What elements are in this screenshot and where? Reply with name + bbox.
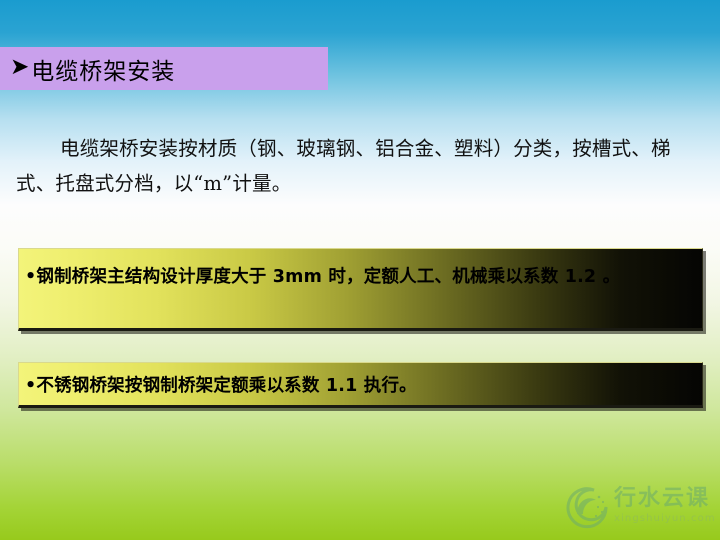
watermark: 行水云课 xingshuiyun.com [564, 476, 714, 534]
page-title: 电缆桥架安装 [31, 52, 175, 86]
watermark-subtitle: xingshuiyun.com [614, 512, 716, 525]
callout-text-1: •钢制桥架主结构设计厚度大于 3mm 时，定额人工、机械乘以系数 1.2 。 [25, 261, 694, 293]
slide-title-band: ➤ 电缆桥架安装 [0, 47, 328, 90]
body-paragraph: 电缆架桥安装按材质（钢、玻璃钢、铝合金、塑料）分类，按槽式、梯式、托盘式分档，以… [16, 131, 708, 201]
arrow-bullet-icon: ➤ [10, 56, 29, 79]
wave-logo-icon [564, 481, 612, 529]
slide-canvas: ➤ 电缆桥架安装 电缆架桥安装按材质（钢、玻璃钢、铝合金、塑料）分类，按槽式、梯… [0, 0, 720, 540]
watermark-text-group: 行水云课 xingshuiyun.com [614, 486, 716, 525]
callout-box-2: •不锈钢桥架按钢制桥架定额乘以系数 1.1 执行。 [18, 362, 703, 408]
watermark-title: 行水云课 [614, 486, 716, 512]
callout-box-1: •钢制桥架主结构设计厚度大于 3mm 时，定额人工、机械乘以系数 1.2 。 [18, 248, 703, 331]
callout-text-2: •不锈钢桥架按钢制桥架定额乘以系数 1.1 执行。 [25, 370, 694, 402]
